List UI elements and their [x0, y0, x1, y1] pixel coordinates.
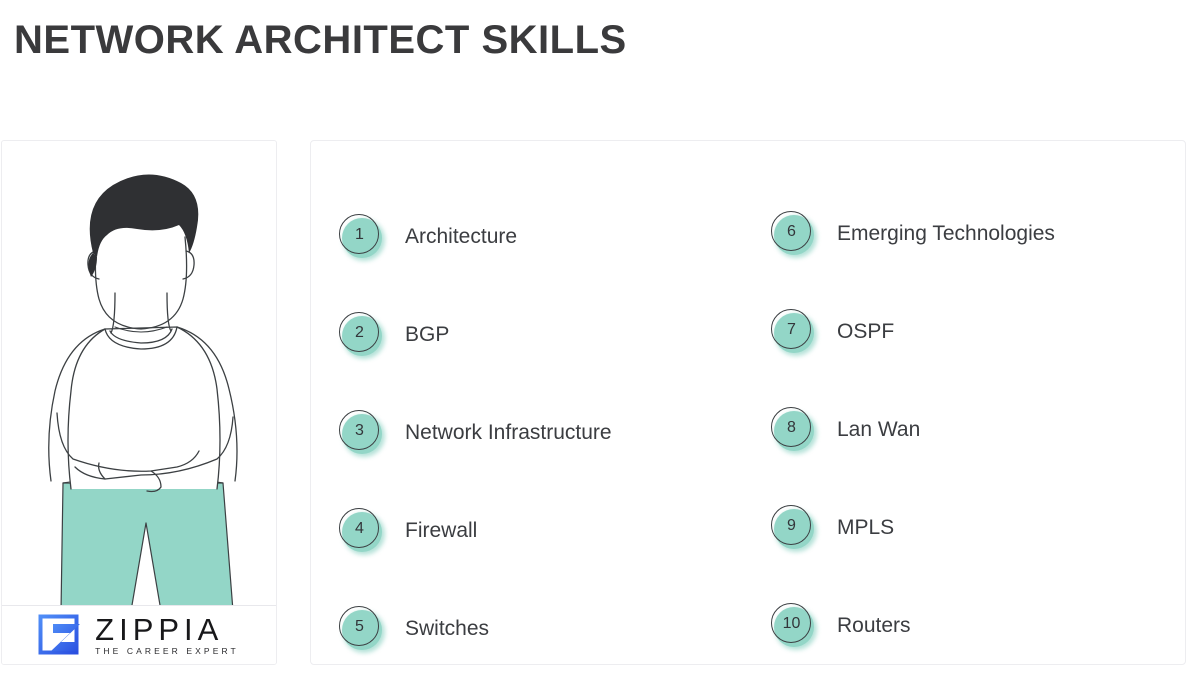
skill-number-badge: 3 — [339, 410, 385, 456]
skill-item: 10 Routers — [771, 577, 1185, 675]
skill-label: Firewall — [405, 518, 477, 544]
skill-label: BGP — [405, 322, 449, 348]
skills-card: 1 Architecture 2 BGP 3 Netw — [310, 140, 1186, 665]
brand-text: ZIPPIA THE CAREER EXPERT — [95, 614, 241, 657]
skill-item: 8 Lan Wan — [771, 381, 1185, 479]
skill-item: 6 Emerging Technologies — [771, 185, 1185, 283]
skills-column-right: 6 Emerging Technologies 7 OSPF 8 — [753, 141, 1185, 664]
skill-label: OSPF — [837, 319, 894, 345]
skill-item: 7 OSPF — [771, 283, 1185, 381]
skill-item: 2 BGP — [339, 286, 753, 384]
skill-label: Network Infrastructure — [405, 420, 612, 446]
skill-label: Switches — [405, 616, 489, 642]
skill-label: Architecture — [405, 224, 517, 250]
skill-label: Routers — [837, 613, 911, 639]
skill-label: Lan Wan — [837, 417, 920, 443]
skill-number-badge: 9 — [771, 505, 817, 551]
skill-number-badge: 5 — [339, 606, 385, 652]
skill-number: 4 — [339, 508, 380, 549]
skill-number: 8 — [771, 407, 812, 448]
zippia-z-logo-icon — [37, 613, 83, 659]
skill-number-badge: 4 — [339, 508, 385, 554]
brand-logo: ZIPPIA THE CAREER EXPERT — [2, 606, 276, 665]
skill-number-badge: 6 — [771, 211, 817, 257]
brand-tagline: THE CAREER EXPERT — [95, 646, 241, 657]
brand-wordmark: ZIPPIA — [95, 614, 241, 646]
skill-item: 9 MPLS — [771, 479, 1185, 577]
skill-number: 1 — [339, 214, 380, 255]
infographic-page: NETWORK ARCHITECT SKILLS — [0, 0, 1200, 675]
skill-number: 7 — [771, 309, 812, 350]
skill-label: MPLS — [837, 515, 894, 541]
page-title: NETWORK ARCHITECT SKILLS — [14, 16, 627, 64]
skill-number: 9 — [771, 505, 812, 546]
skill-item: 5 Switches — [339, 580, 753, 678]
skills-column-left: 1 Architecture 2 BGP 3 Netw — [311, 141, 753, 664]
skill-number: 5 — [339, 606, 380, 647]
skill-number: 6 — [771, 211, 812, 252]
skill-number-badge: 7 — [771, 309, 817, 355]
skill-number-badge: 2 — [339, 312, 385, 358]
skill-number-badge: 8 — [771, 407, 817, 453]
illustration-panel: ZIPPIA THE CAREER EXPERT — [1, 140, 277, 665]
skill-number: 10 — [771, 603, 812, 644]
skill-number-badge: 10 — [771, 603, 817, 649]
skill-number-badge: 1 — [339, 214, 385, 260]
skill-item: 3 Network Infrastructure — [339, 384, 753, 482]
skill-item: 4 Firewall — [339, 482, 753, 580]
skill-item: 1 Architecture — [339, 188, 753, 286]
skill-number: 3 — [339, 410, 380, 451]
person-illustration — [2, 141, 276, 605]
skill-number: 2 — [339, 312, 380, 353]
skill-label: Emerging Technologies — [837, 221, 1055, 247]
